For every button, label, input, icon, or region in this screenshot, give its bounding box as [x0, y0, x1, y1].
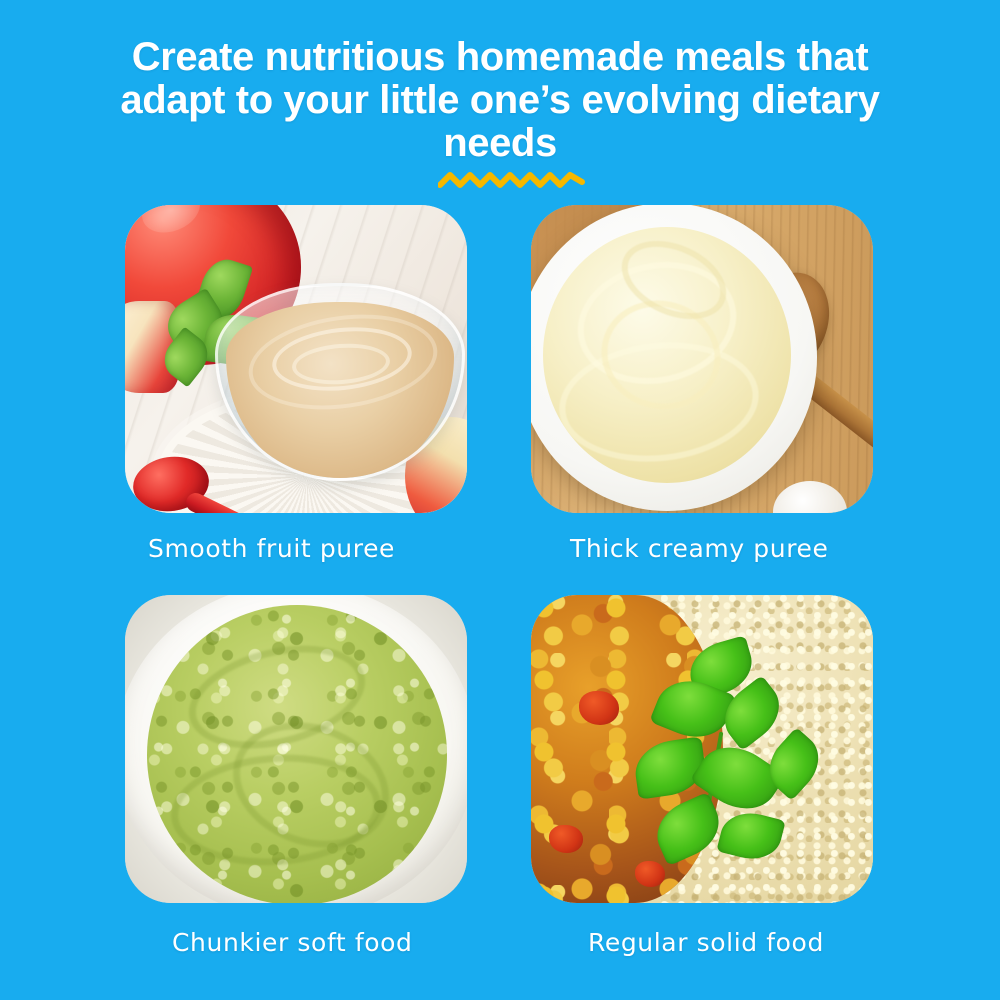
photo-tile-regular-solid-food[interactable]	[531, 595, 873, 903]
coriander-leaf	[647, 792, 728, 866]
squiggle-underline-icon	[438, 168, 588, 194]
coriander-leaf	[716, 806, 785, 865]
tomato-piece	[579, 691, 619, 725]
photo-tile-thick-creamy-puree[interactable]	[531, 205, 873, 513]
photo-thick-creamy-puree	[531, 205, 873, 513]
photo-tile-chunkier-soft-food[interactable]	[125, 595, 467, 903]
photo-chunkier-soft-food	[125, 595, 467, 903]
coriander-garnish	[617, 637, 827, 887]
caption-thick-creamy-puree: Thick creamy puree	[570, 534, 829, 563]
caption-chunkier-soft-food: Chunkier soft food	[172, 928, 413, 957]
caption-smooth-fruit-puree: Smooth fruit puree	[148, 534, 395, 563]
poster-canvas: Create nutritious homemade meals that ad…	[0, 0, 1000, 1000]
photo-smooth-fruit-puree	[125, 205, 467, 513]
photo-tile-smooth-fruit-puree[interactable]	[125, 205, 467, 513]
page-title: Create nutritious homemade meals that ad…	[90, 36, 910, 165]
green-chunky-puree	[147, 605, 447, 903]
photo-regular-solid-food	[531, 595, 873, 903]
caption-regular-solid-food: Regular solid food	[588, 928, 824, 957]
creamy-mashed-potato	[543, 227, 791, 483]
tomato-piece	[549, 825, 583, 853]
